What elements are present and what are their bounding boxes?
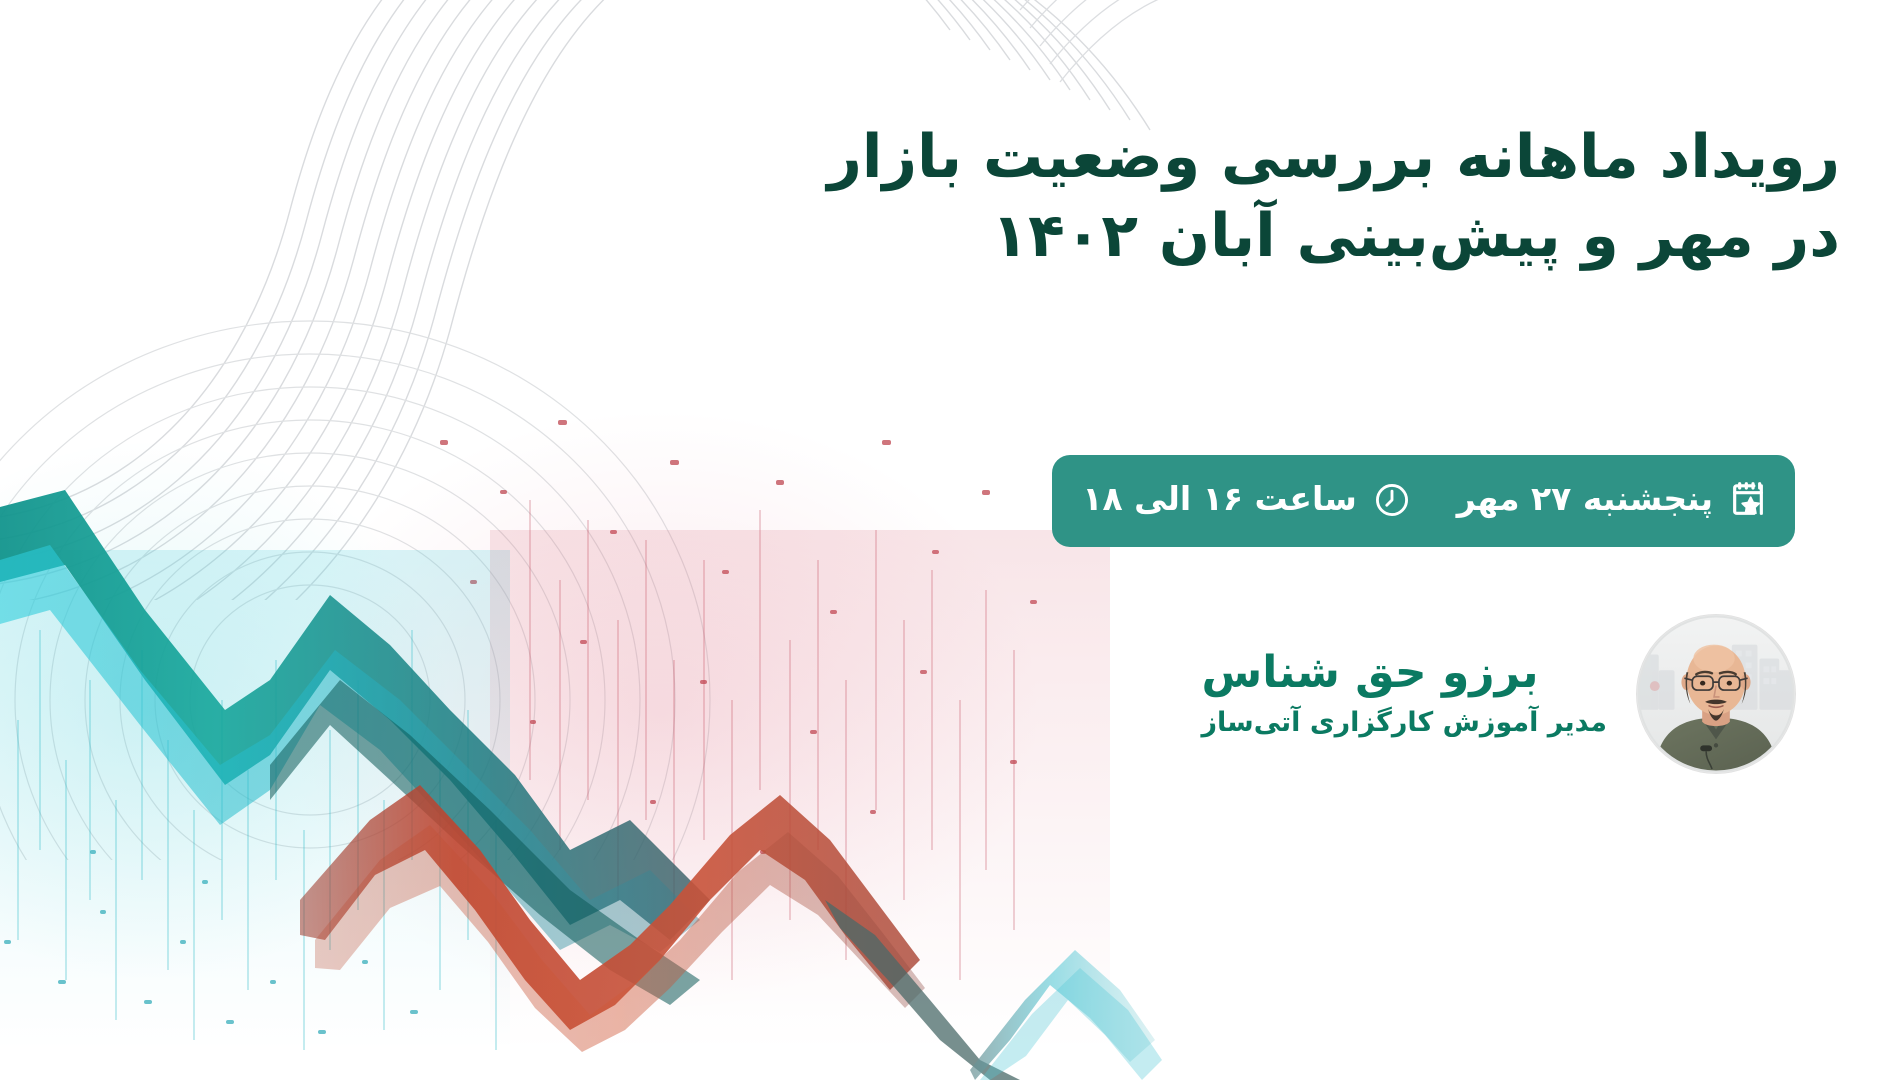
clock-icon	[1371, 479, 1413, 521]
event-banner: رویداد ماهانه بررسی وضعیت بازار در مهر و…	[0, 0, 1900, 1083]
speaker-text-block: برزو حق شناس مدیر آموزش کارگزاری آتی‌ساز	[1201, 649, 1607, 740]
speaker-role: مدیر آموزش کارگزاری آتی‌ساز	[1201, 707, 1607, 739]
calendar-star-icon	[1727, 479, 1769, 521]
badge-time-segment: ساعت ۱۶ الی ۱۸	[1082, 479, 1412, 521]
event-datetime-badge: پنجشنبه ۲۷ مهر ساعت ۱۶ الی ۱۸	[1052, 455, 1795, 547]
page-title: رویداد ماهانه بررسی وضعیت بازار در مهر و…	[590, 118, 1840, 276]
title-line-2: در مهر و پیش‌بینی آبان ۱۴۰۲	[590, 197, 1840, 276]
badge-time-text: ساعت ۱۶ الی ۱۸	[1082, 482, 1356, 519]
avatar	[1637, 615, 1795, 773]
title-line-1: رویداد ماهانه بررسی وضعیت بازار	[590, 118, 1840, 197]
speaker-block: برزو حق شناس مدیر آموزش کارگزاری آتی‌ساز	[1201, 615, 1795, 773]
speaker-name: برزو حق شناس	[1201, 649, 1538, 697]
badge-date-segment: پنجشنبه ۲۷ مهر	[1457, 479, 1769, 521]
content-column: رویداد ماهانه بررسی وضعیت بازار در مهر و…	[590, 0, 1840, 1083]
badge-date-text: پنجشنبه ۲۷ مهر	[1457, 482, 1713, 519]
